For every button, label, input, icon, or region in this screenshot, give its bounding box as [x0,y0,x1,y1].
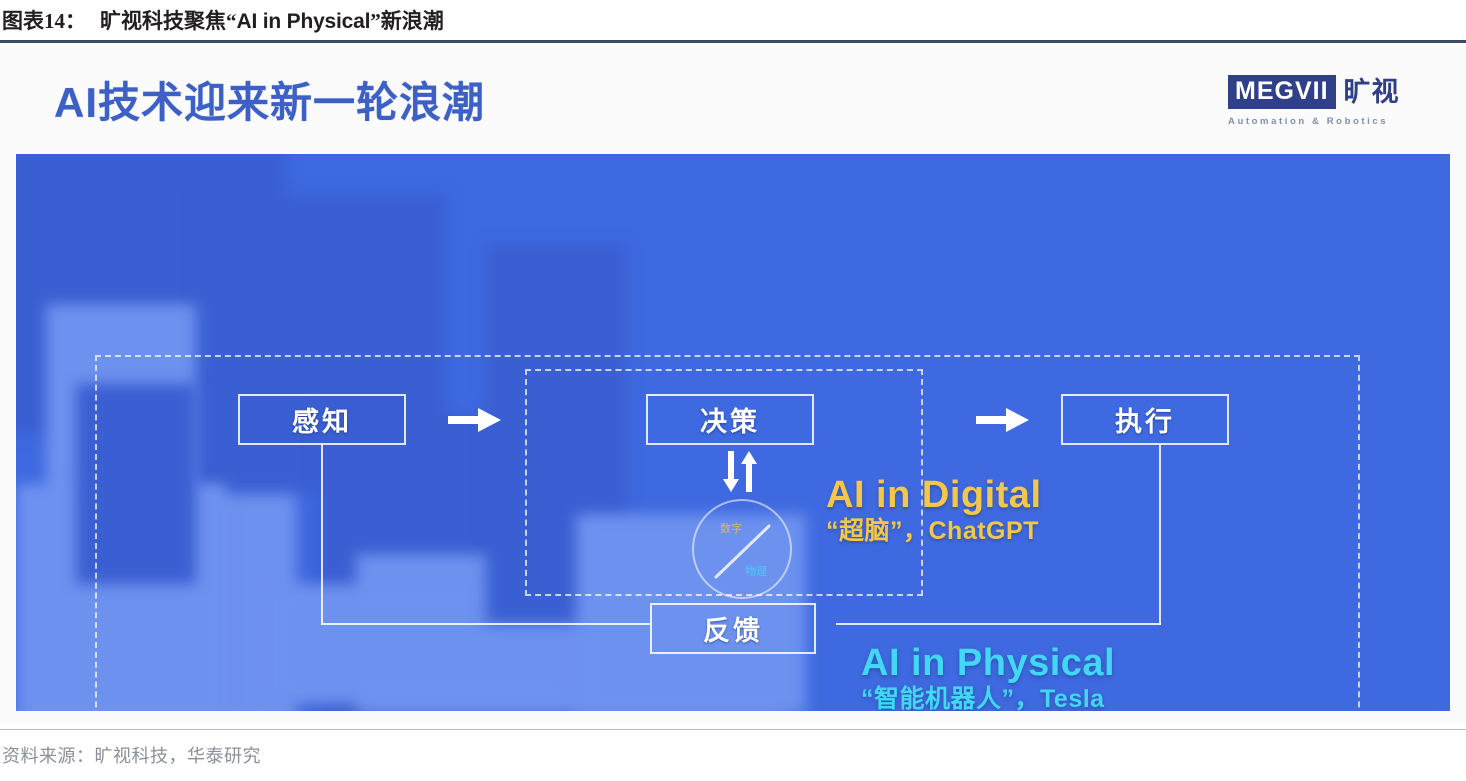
gauge-icon: 数字 物理 [690,497,794,601]
logo-row: MEGVII 旷视 [1228,75,1404,109]
tag-physical-subtitle: “智能机器人”，Tesla [861,686,1115,711]
node-decision-label: 决策 [700,400,760,439]
node-execution[interactable]: 执行 [1061,394,1229,445]
node-decision[interactable]: 决策 [646,394,814,445]
node-feedback[interactable]: 反馈 [650,603,816,654]
diagram-canvas: 感知 决策 执行 反馈 [16,154,1450,711]
slide-header: AI技术迎来新一轮浪潮 MEGVII 旷视 Automation & Robot… [0,47,1466,147]
source-divider [0,729,1466,730]
arrows-bidirectional-vertical-icon [713,451,771,493]
tag-digital-title: AI in Digital [826,476,1042,516]
node-perception-label: 感知 [292,400,352,439]
logo-tagline: Automation & Robotics [1228,116,1404,127]
figure-number: 图表14： [2,5,86,35]
arrow-right-icon [448,407,502,433]
gauge-label-lower: 物理 [745,564,767,578]
gauge-label-upper: 数字 [720,521,742,535]
node-perception[interactable]: 感知 [238,394,406,445]
tag-physical-title: AI in Physical [861,644,1115,684]
caption-divider [0,40,1466,43]
figure-title-prefix: 旷视科技聚焦“ [100,9,237,33]
figure-title-latin: AI in Physical [237,10,371,33]
connector-perception-down [321,445,323,625]
tag-ai-in-digital: AI in Digital “超脑”，ChatGPT [826,476,1042,545]
slide-title: AI技术迎来新一轮浪潮 [54,69,485,130]
megvii-wordmark: MEGVII [1228,75,1336,109]
tag-ai-in-physical: AI in Physical “智能机器人”，Tesla [861,644,1115,711]
figure-title: 旷视科技聚焦“AI in Physical”新浪潮 [100,5,444,35]
slide-figure: AI技术迎来新一轮浪潮 MEGVII 旷视 Automation & Robot… [0,47,1466,724]
megvii-chinese-name: 旷视 [1344,79,1400,106]
arrow-right-icon [976,407,1030,433]
connector-perception-to-feedback [321,623,652,625]
connector-execution-down [1159,445,1161,625]
source-note: 资料来源：旷视科技，华泰研究 [2,742,261,768]
tag-digital-subtitle: “超脑”，ChatGPT [826,518,1042,546]
node-execution-label: 执行 [1115,400,1175,439]
connector-feedback-to-execution [836,623,1161,625]
node-feedback-label: 反馈 [703,609,763,648]
figure-title-suffix: ”新浪潮 [370,9,444,33]
megvii-logo: MEGVII 旷视 Automation & Robotics [1228,75,1404,133]
figure-caption: 图表14： 旷视科技聚焦“AI in Physical”新浪潮 [0,0,1466,40]
